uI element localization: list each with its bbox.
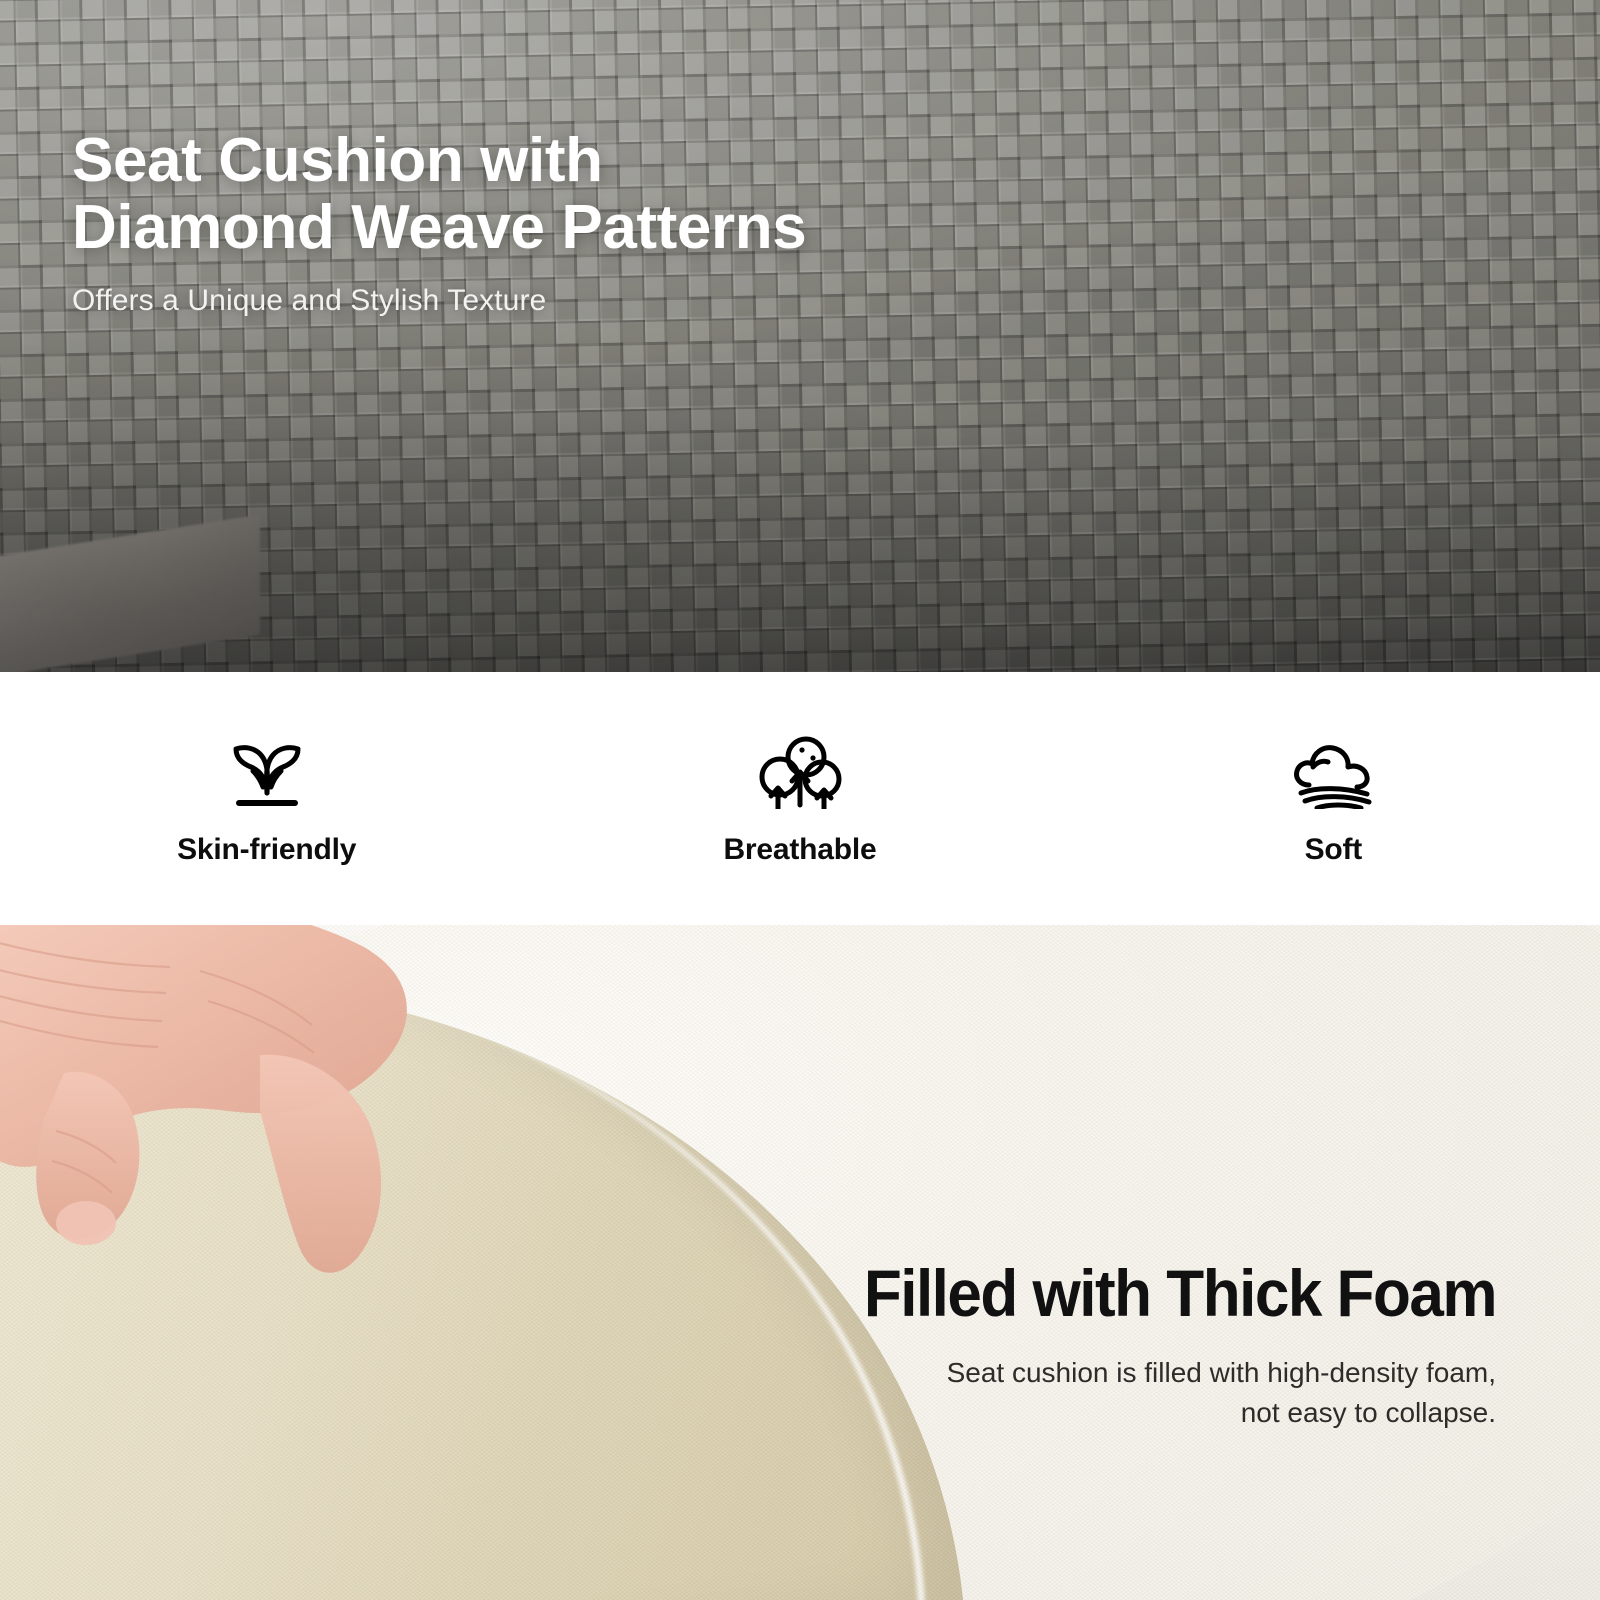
hero-weave-panel: Seat Cushion with Diamond Weave Patterns…: [0, 0, 1600, 672]
cloud-waves-icon: [1283, 731, 1383, 809]
product-feature-page: Seat Cushion with Diamond Weave Patterns…: [0, 0, 1600, 1600]
hero-title: Seat Cushion with Diamond Weave Patterns: [72, 128, 1172, 262]
feature-icon-strip: Skin-friendly Breathable: [0, 672, 1600, 925]
sprout-leaf-icon: [217, 731, 317, 809]
foam-photo-panel: Filled with Thick Foam Seat cushion is f…: [0, 925, 1600, 1600]
feature-label-soft: Soft: [1305, 833, 1363, 867]
clouds-up-arrows-icon: [750, 731, 850, 809]
hand-pinching-foam: [0, 925, 520, 1325]
feature-item-skin-friendly: Skin-friendly: [0, 672, 533, 925]
feature-label-skin-friendly: Skin-friendly: [177, 833, 356, 867]
weave-shadow-overlay: [0, 0, 1600, 672]
foam-copy-block: Filled with Thick Foam Seat cushion is f…: [666, 1255, 1496, 1433]
hero-copy-block: Seat Cushion with Diamond Weave Patterns…: [72, 128, 1172, 318]
feature-item-breathable: Breathable: [533, 672, 1066, 925]
hero-subtitle: Offers a Unique and Stylish Texture: [72, 284, 1172, 318]
feature-item-soft: Soft: [1067, 672, 1600, 925]
foam-title: Filled with Thick Foam: [716, 1255, 1496, 1331]
feature-label-breathable: Breathable: [723, 833, 876, 867]
foam-body-text: Seat cushion is filled with high-density…: [666, 1353, 1496, 1433]
